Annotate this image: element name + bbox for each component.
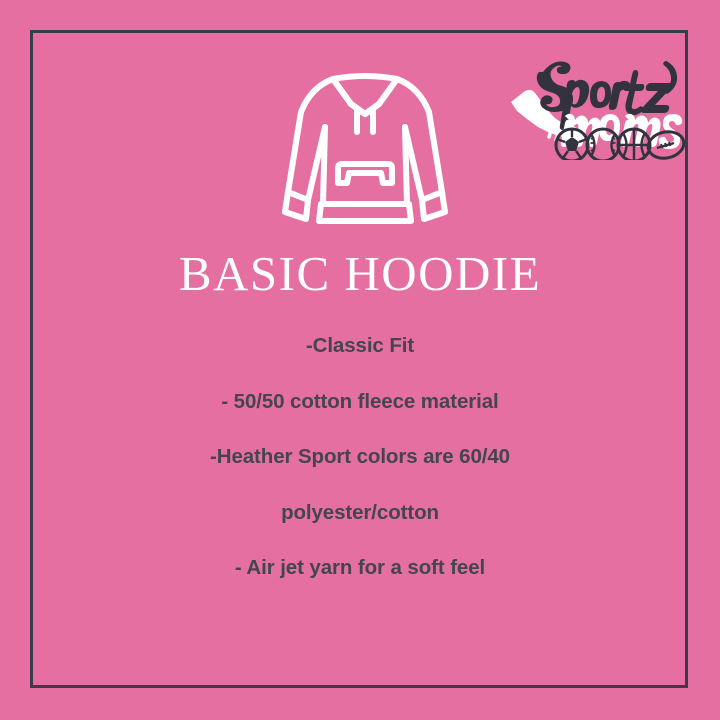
sportz-moms-logo — [505, 38, 685, 160]
basketball-icon — [618, 129, 650, 160]
page-title: BASIC HOODIE — [0, 248, 720, 301]
product-info-card: BASIC HOODIE -Classic Fit - 50/50 cotton… — [0, 0, 720, 720]
feature-line: polyester/cotton — [0, 503, 720, 524]
feature-line: - Air jet yarn for a soft feel — [0, 558, 720, 579]
hoodie-icon — [275, 52, 455, 232]
feature-list: -Classic Fit - 50/50 cotton fleece mater… — [0, 336, 720, 579]
feature-line: -Classic Fit — [0, 336, 720, 357]
soccer-ball-icon — [556, 129, 588, 160]
feature-line: -Heather Sport colors are 60/40 — [0, 447, 720, 468]
feature-line: - 50/50 cotton fleece material — [0, 392, 720, 413]
